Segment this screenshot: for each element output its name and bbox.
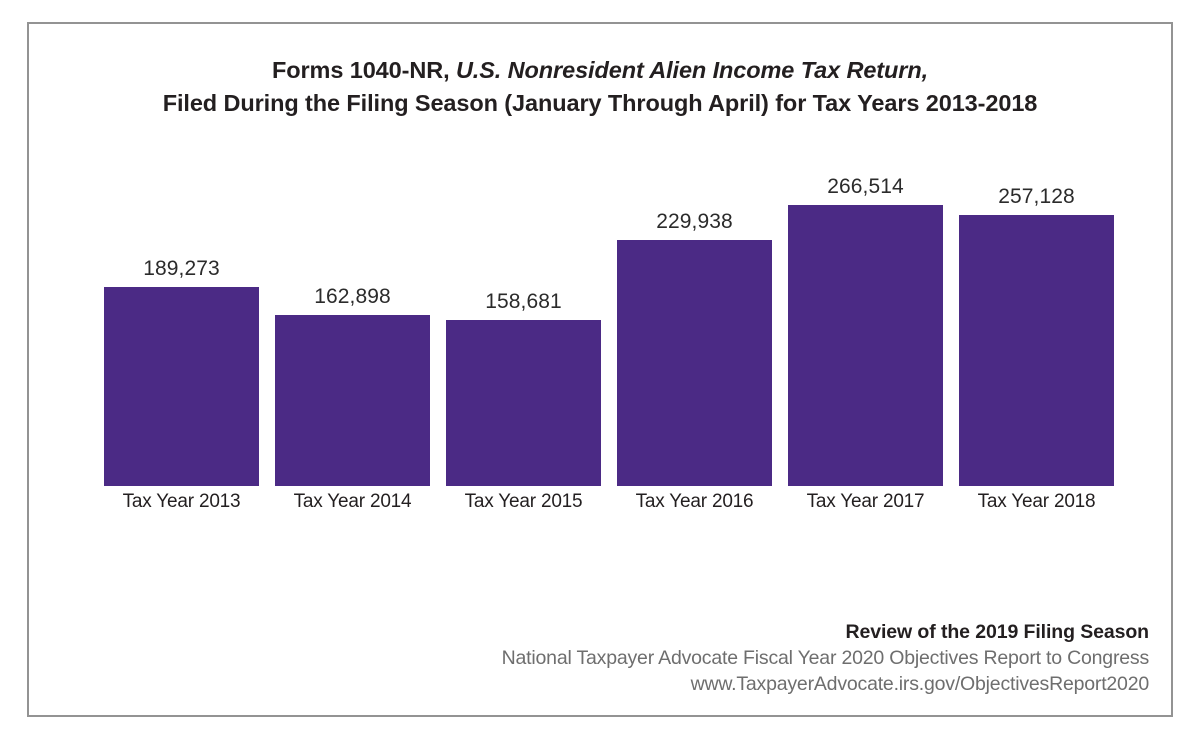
bar-rect[interactable]	[275, 315, 430, 486]
bar-category-label: Tax Year 2015	[465, 491, 583, 513]
bar-rect[interactable]	[104, 287, 259, 486]
bar-category-label: Tax Year 2014	[294, 491, 412, 513]
bar-group: 189,273 Tax Year 2013	[104, 287, 259, 486]
bar-group: 158,681 Tax Year 2015	[446, 320, 601, 486]
bar-category-label: Tax Year 2018	[978, 491, 1096, 513]
bar-group: 162,898 Tax Year 2014	[275, 315, 430, 486]
chart-title-line-2: Filed During the Filing Season (January …	[29, 87, 1171, 120]
bar-category-label: Tax Year 2017	[807, 491, 925, 513]
bar-rect[interactable]	[617, 240, 772, 486]
bar-value-label: 189,273	[143, 257, 220, 281]
bar-group: 229,938 Tax Year 2016	[617, 240, 772, 486]
bar-value-label: 257,128	[998, 185, 1075, 209]
footer-report-subtitle: National Taxpayer Advocate Fiscal Year 2…	[502, 645, 1149, 671]
bar-group: 266,514 Tax Year 2017	[788, 205, 943, 486]
chart-title-line-1-normal: Forms 1040-NR,	[272, 57, 456, 83]
bar-chart-plot-area: 189,273 Tax Year 2013 162,898 Tax Year 2…	[104, 164, 1110, 486]
bar-value-label: 158,681	[485, 290, 562, 314]
bar-category-label: Tax Year 2013	[123, 491, 241, 513]
bar-rect[interactable]	[959, 215, 1114, 486]
chart-title-line-1: Forms 1040-NR, U.S. Nonresident Alien In…	[29, 54, 1171, 87]
bar-category-label: Tax Year 2016	[636, 491, 754, 513]
footer-report-url: www.TaxpayerAdvocate.irs.gov/ObjectivesR…	[502, 671, 1149, 697]
bar-value-label: 266,514	[827, 175, 904, 199]
bar-value-label: 162,898	[314, 285, 391, 309]
chart-title-line-1-italic: U.S. Nonresident Alien Income Tax Return…	[456, 57, 928, 83]
chart-frame: Forms 1040-NR, U.S. Nonresident Alien In…	[27, 22, 1173, 717]
footer: Review of the 2019 Filing Season Nationa…	[502, 619, 1149, 697]
bar-value-label: 229,938	[656, 210, 733, 234]
chart-title: Forms 1040-NR, U.S. Nonresident Alien In…	[29, 54, 1171, 120]
bar-rect[interactable]	[446, 320, 601, 486]
bar-group: 257,128 Tax Year 2018	[959, 215, 1114, 486]
footer-report-title: Review of the 2019 Filing Season	[502, 619, 1149, 645]
bar-rect[interactable]	[788, 205, 943, 486]
